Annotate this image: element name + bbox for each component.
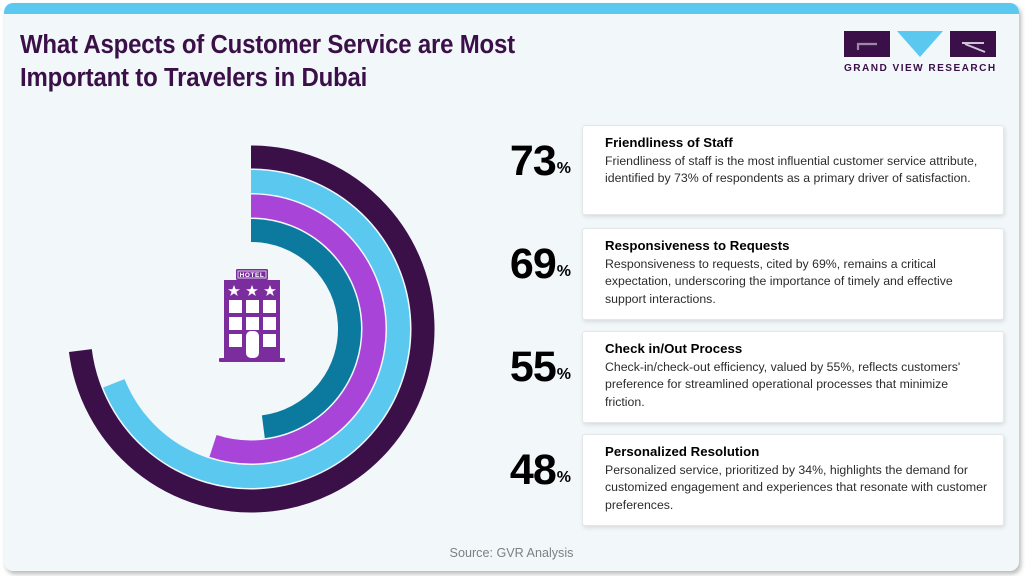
hotel-window [229, 300, 242, 313]
stat-percentage: 73% [474, 125, 582, 183]
stat-row: 69% Responsiveness to Requests Responsiv… [474, 228, 1004, 331]
stat-percentage: 69% [474, 228, 582, 286]
hotel-door [246, 331, 259, 358]
hotel-window [229, 317, 242, 330]
stat-value: 69 [510, 240, 556, 288]
stat-card[interactable]: Friendliness of Staff Friendliness of st… [582, 125, 1004, 215]
hotel-icon: HOTEL [219, 269, 285, 362]
hotel-base [219, 358, 285, 362]
stat-card[interactable]: Responsiveness to Requests Responsivenes… [582, 228, 1004, 320]
stat-card-title: Friendliness of Staff [605, 135, 989, 150]
stat-card-body: Check-in/check-out efficiency, valued by… [605, 359, 989, 411]
stat-percentage: 48% [474, 434, 582, 492]
stat-card-title: Check in/Out Process [605, 341, 989, 356]
hotel-sign-label: HOTEL [240, 272, 265, 279]
stat-percent-symbol: % [557, 160, 571, 177]
hotel-window [246, 317, 259, 330]
radial-chart-svg: HOTEL [56, 129, 446, 529]
logo-marks [844, 31, 996, 57]
infographic-frame: What Aspects of Customer Service are Mos… [4, 3, 1019, 571]
source-note: Source: GVR Analysis [4, 546, 1019, 560]
stat-value: 73 [510, 137, 556, 185]
infographic-root: What Aspects of Customer Service are Mos… [0, 0, 1025, 576]
stat-percentage: 55% [474, 331, 582, 389]
stat-percent-symbol: % [557, 366, 571, 383]
hotel-window [263, 300, 276, 313]
stat-card-body: Friendliness of staff is the most influe… [605, 153, 989, 188]
stat-card-title: Responsiveness to Requests [605, 238, 989, 253]
stat-row: 73% Friendliness of Staff Friendliness o… [474, 125, 1004, 228]
stat-value: 55 [510, 343, 556, 391]
hotel-window [263, 334, 276, 347]
hotel-window [263, 317, 276, 330]
stat-card-title: Personalized Resolution [605, 444, 989, 459]
stat-card-body: Personalized service, prioritized by 34%… [605, 462, 989, 514]
hotel-window [246, 300, 259, 313]
radial-bar-chart: HOTEL [56, 129, 446, 529]
stat-percent-symbol: % [557, 263, 571, 280]
brand-logo: GRAND VIEW RESEARCH [844, 31, 996, 81]
stat-percent-symbol: % [557, 469, 571, 486]
stat-rows: 73% Friendliness of Staff Friendliness o… [474, 125, 1004, 537]
stat-row: 48% Personalized Resolution Personalized… [474, 434, 1004, 537]
page-title: What Aspects of Customer Service are Mos… [20, 29, 622, 94]
stat-card[interactable]: Personalized Resolution Personalized ser… [582, 434, 1004, 526]
logo-v-triangle [897, 31, 943, 57]
top-accent-bar [4, 3, 1019, 14]
stat-card[interactable]: Check in/Out Process Check-in/check-out … [582, 331, 1004, 423]
logo-glyphs-svg [844, 31, 996, 57]
stat-row: 55% Check in/Out Process Check-in/check-… [474, 331, 1004, 434]
hotel-window [229, 334, 242, 347]
stat-value: 48 [510, 446, 556, 494]
logo-wordmark: GRAND VIEW RESEARCH [844, 63, 996, 74]
stat-card-body: Responsiveness to requests, cited by 69%… [605, 256, 989, 308]
